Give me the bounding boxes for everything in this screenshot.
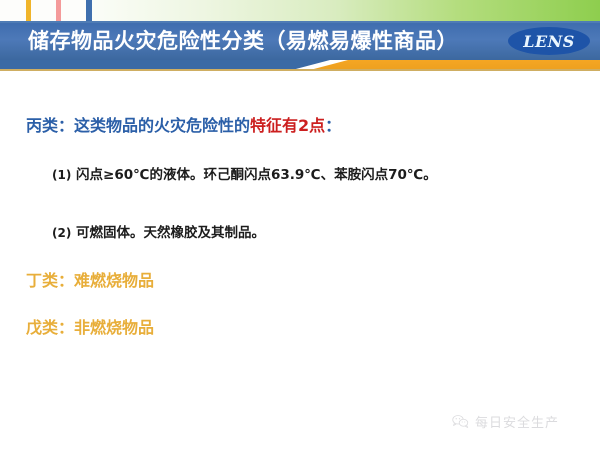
bullet-number: (2) (52, 226, 71, 240)
gold-tick-bar (26, 0, 31, 22)
green-gradient-bar (90, 0, 600, 22)
wechat-icon (452, 414, 469, 429)
lens-logo: LENS (508, 28, 590, 55)
pink-tick-bar (56, 0, 61, 22)
watermark: 每日安全生产 (452, 412, 559, 431)
page-title: 储存物品火灾危险性分类（易燃易爆性商品） (28, 27, 458, 56)
bullet-item: (2) 可燃固体。天然橡胶及其制品。 (52, 223, 265, 243)
bullet-item: (1) 闪点≥60℃的液体。环己酮闪点63.9℃、苯胺闪点70℃。 (52, 165, 437, 185)
category-line-wu: 戊类：非燃烧物品 (26, 317, 154, 339)
slide-body: 丙类：这类物品的火灾危险性的特征有2点： (1) 闪点≥60℃的液体。环己酮闪点… (0, 70, 600, 450)
lead-highlight: 特征有2点 (250, 116, 325, 135)
category-line-ding: 丁类：难燃烧物品 (26, 270, 154, 292)
lead-statement: 丙类：这类物品的火灾危险性的特征有2点： (26, 115, 341, 137)
lead-suffix: ： (325, 116, 341, 135)
lead-prefix: 丙类：这类物品的火灾危险性的 (26, 116, 250, 135)
watermark-text: 每日安全生产 (475, 412, 559, 431)
bullet-text: 闪点≥60℃的液体。环己酮闪点63.9℃、苯胺闪点70℃。 (76, 167, 437, 183)
bullet-number: (1) (52, 168, 71, 182)
top-decor-strip (0, 0, 600, 22)
slide-canvas: 储存物品火灾危险性分类（易燃易爆性商品） LENS 丙类：这类物品的火灾危险性的… (0, 0, 600, 450)
bullet-text: 可燃固体。天然橡胶及其制品。 (76, 225, 265, 241)
blue-tick-bar (86, 0, 92, 22)
